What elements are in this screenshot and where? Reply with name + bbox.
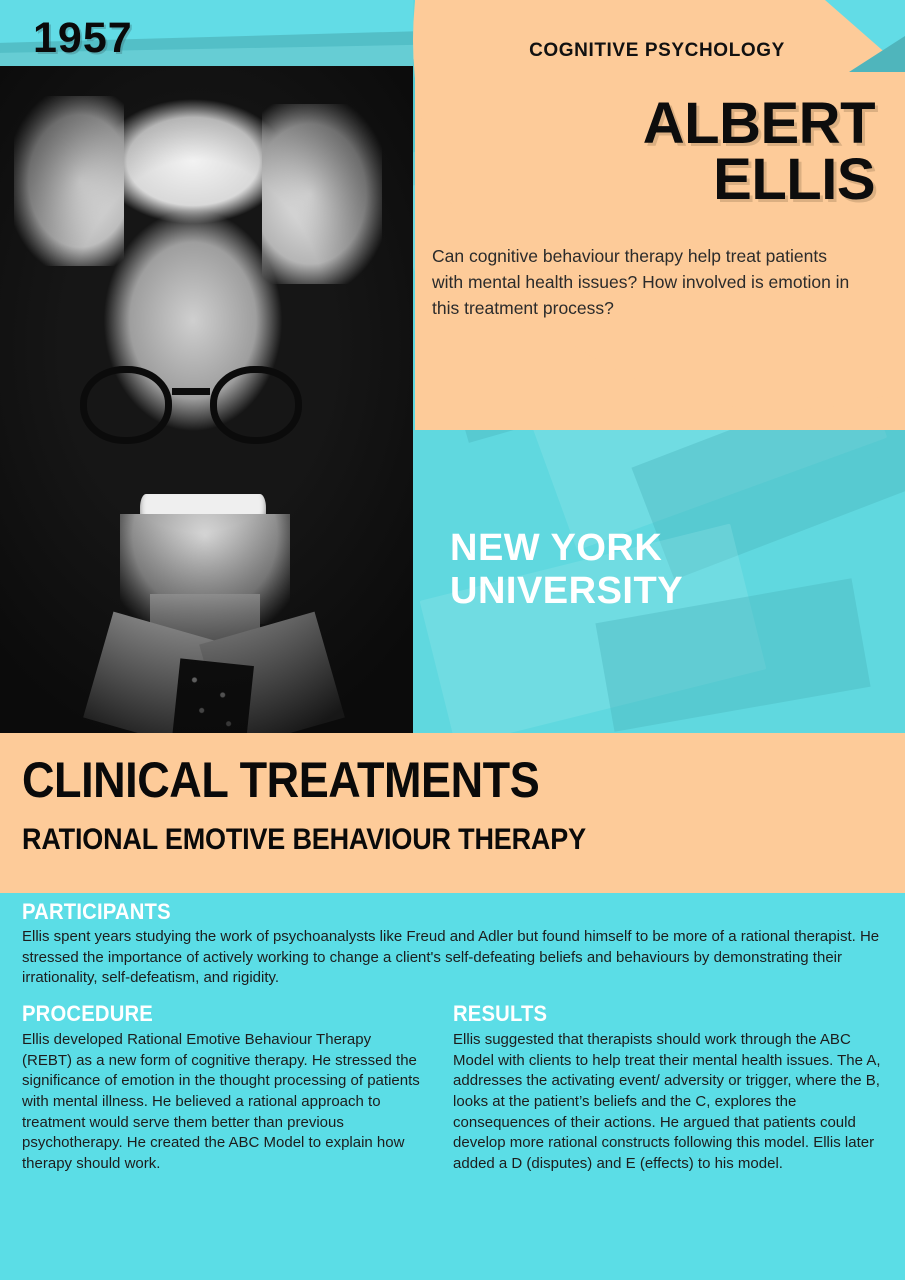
research-question-text: Can cognitive behaviour therapy help tre… — [432, 244, 862, 322]
results-section: RESULTS Ellis suggested that therapists … — [453, 1001, 892, 1175]
procedure-section: PROCEDURE Ellis developed Rational Emoti… — [22, 1001, 421, 1175]
results-body: Ellis suggested that therapists should w… — [453, 1030, 892, 1175]
participants-section: PARTICIPANTS Ellis spent years studying … — [22, 899, 882, 989]
top-zone: 1957 COGNITIVE PSYCHOLOGY ALBERT ELLIS C… — [0, 0, 905, 733]
procedure-heading: PROCEDURE — [22, 1001, 389, 1027]
portrait-vignette — [0, 66, 413, 733]
participants-heading: PARTICIPANTS — [22, 899, 813, 925]
field-label: COGNITIVE PSYCHOLOGY — [437, 40, 877, 62]
topic-banner: CLINICAL TREATMENTS RATIONAL EMOTIVE BEH… — [0, 733, 905, 893]
details-section: PARTICIPANTS Ellis spent years studying … — [0, 893, 905, 1280]
banner-title: CLINICAL TREATMENTS — [22, 751, 539, 809]
year-label: 1957 — [33, 14, 133, 63]
university-label: NEW YORK UNIVERSITY — [450, 527, 880, 612]
portrait-photo-albert-ellis — [0, 66, 413, 733]
results-heading: RESULTS — [453, 1001, 857, 1027]
two-column-row: PROCEDURE Ellis developed Rational Emoti… — [22, 1001, 892, 1175]
procedure-body: Ellis developed Rational Emotive Behavio… — [22, 1030, 421, 1175]
page-title-person-name: ALBERT ELLIS — [435, 96, 875, 207]
banner-subtitle: RATIONAL EMOTIVE BEHAVIOUR THERAPY — [22, 823, 586, 857]
poster-root: 1957 COGNITIVE PSYCHOLOGY ALBERT ELLIS C… — [0, 0, 905, 1280]
participants-body: Ellis spent years studying the work of p… — [22, 927, 882, 989]
